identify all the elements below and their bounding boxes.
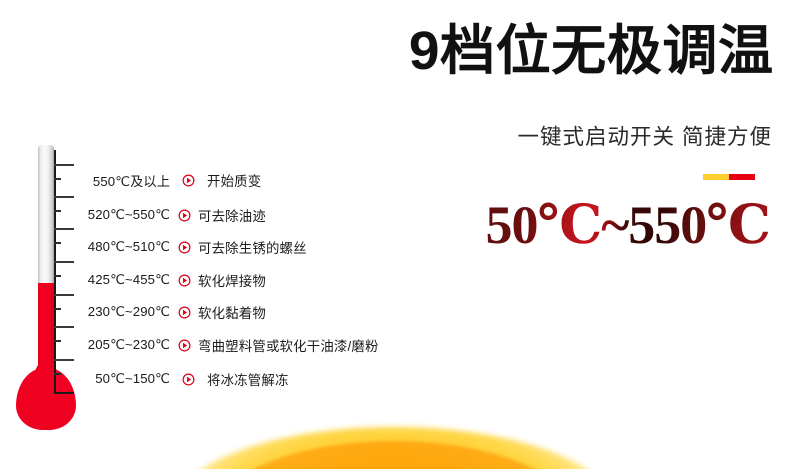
thermometer-tick-8 [54, 294, 74, 296]
temperature-row: 480℃~510℃可去除生锈的螺丝 [60, 237, 307, 257]
temperature-range-label: 520℃~550℃ [60, 207, 170, 223]
thermometer-axis [54, 150, 56, 394]
accent-bar [703, 174, 755, 180]
glow-inner-arc [214, 441, 574, 469]
arrow-right-circle-icon [178, 274, 191, 287]
temperature-usage-description: 软化焊接物 [198, 270, 266, 290]
arrow-right-circle-icon [182, 174, 195, 187]
temperature-row: 520℃~550℃可去除油迹 [60, 205, 266, 225]
temperature-usage-description: 可去除油迹 [198, 205, 266, 225]
temperature-range-label: 550℃及以上 [60, 171, 170, 190]
temperature-row: 50℃~150℃将冰冻管解冻 [60, 369, 289, 389]
temperature-range-label: 425℃~455℃ [60, 272, 170, 288]
temperature-range-label: 50℃~150℃ [60, 371, 170, 387]
accent-bar-red-segment [729, 174, 755, 180]
thermometer-tick-4 [54, 228, 74, 230]
arrow-right-circle-icon [182, 373, 195, 386]
arrow-right-circle-icon [178, 306, 191, 319]
temperature-row: 230℃~290℃软化黏着物 [60, 302, 266, 322]
temperature-range-label: 230℃~290℃ [60, 304, 170, 320]
temperature-usage-description: 可去除生锈的螺丝 [198, 237, 307, 257]
thermometer-tick-12 [54, 359, 74, 361]
page-subtitle: 一键式启动开关 简捷方便 [518, 120, 772, 151]
temperature-usage-description: 将冰冻管解冻 [202, 369, 289, 389]
thermometer-tick-14 [54, 392, 74, 394]
page-title: 9档位无极调温 [409, 22, 774, 80]
temperature-range-label: 480℃~510℃ [60, 239, 170, 255]
temperature-usage-description: 开始质变 [202, 170, 261, 190]
temperature-row: 425℃~455℃软化焊接物 [60, 270, 266, 290]
thermometer-tick-2 [54, 196, 74, 198]
temperature-range-label: 205℃~230℃ [60, 337, 170, 353]
arrow-right-circle-icon [178, 209, 191, 222]
temperature-row: 205℃~230℃弯曲塑料管或软化干油漆/磨粉 [60, 335, 379, 355]
accent-bar-yellow-segment [703, 174, 729, 180]
temperature-range-value: 50℃~550℃ [486, 196, 771, 254]
arrow-right-circle-icon [178, 241, 191, 254]
promo-banner: 550℃及以上开始质变520℃~550℃可去除油迹480℃~510℃可去除生锈的… [0, 0, 790, 469]
temperature-row: 550℃及以上开始质变 [60, 170, 261, 190]
temperature-usage-description: 弯曲塑料管或软化干油漆/磨粉 [198, 335, 379, 355]
thermometer-tick-10 [54, 326, 74, 328]
glow-outer-arc [176, 427, 612, 469]
arrow-right-circle-icon [178, 339, 191, 352]
thermometer-tick-0 [54, 164, 74, 166]
temperature-usage-description: 软化黏着物 [198, 302, 266, 322]
thermometer-tick-6 [54, 261, 74, 263]
